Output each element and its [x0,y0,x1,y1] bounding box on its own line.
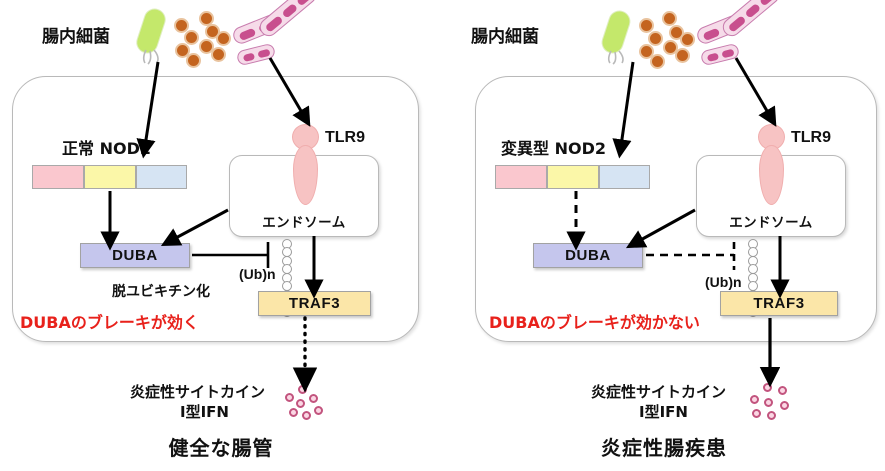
bacteria-label: 腸内細菌 [471,22,539,47]
nod2-segment-2 [84,165,136,189]
ubiquitin-label: (Ub)n [705,274,742,290]
nod2-protein-bar [495,165,650,189]
diagram-canvas: 腸内細菌 [0,0,885,471]
cytokine-label-line2: I型IFN [639,401,688,422]
highlight-text: DUBAのブレーキが効かない [489,309,700,333]
tlr9-label: TLR9 [791,129,831,147]
traf3-label: TRAF3 [289,295,340,312]
nod2-protein-bar [32,165,187,189]
traf3-box: TRAF3 [258,291,371,316]
nod2-label: 正常 NOD2 [62,135,151,159]
traf3-label: TRAF3 [753,295,804,312]
duba-box: DUBA [80,243,190,268]
cytokine-dots-icon [748,383,794,421]
nod2-label: 変異型 NOD2 [501,135,606,159]
tlr9-label: TLR9 [325,129,365,147]
deubiquitination-label: 脱ユビキチン化 [112,281,210,301]
panel-healthy-gut: 腸内細菌 [0,0,442,471]
nod2-segment-3 [599,165,650,189]
ubiquitin-label: (Ub)n [239,266,276,282]
cytokine-label-line1: 炎症性サイトカイン [591,381,726,402]
cytokine-dots-icon [284,385,328,421]
nod2-segment-1 [32,165,84,189]
duba-label: DUBA [112,247,158,264]
duba-label: DUBA [565,247,611,264]
nod2-segment-3 [136,165,187,189]
panel-title: 健全な腸管 [0,432,442,461]
endosome-label: エンドソーム [230,211,378,231]
duba-box: DUBA [533,243,643,268]
highlight-text: DUBAのブレーキが効く [20,309,199,333]
endosome-label: エンドソーム [697,211,845,231]
bacteria-label: 腸内細菌 [42,22,110,47]
traf3-box: TRAF3 [720,291,838,316]
nod2-segment-2 [547,165,599,189]
cytokine-label-line1: 炎症性サイトカイン [130,381,265,402]
panel-title: 炎症性腸疾患 [443,432,885,461]
nod2-segment-1 [495,165,547,189]
cytokine-label-line2: I型IFN [180,401,229,422]
panel-ibd: 腸内細菌 [443,0,885,471]
